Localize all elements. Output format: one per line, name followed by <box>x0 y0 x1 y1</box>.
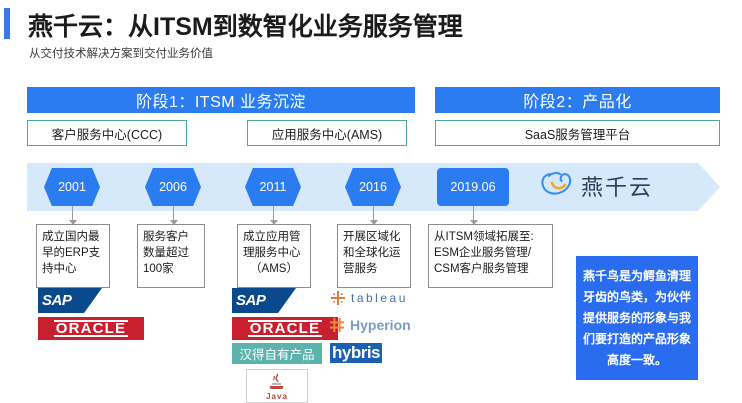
phase-2-header: 阶段2：产品化 <box>435 87 720 113</box>
brand-name: 燕千云 <box>581 170 653 202</box>
description-line: 理服务中心 <box>243 245 305 261</box>
connector-line-5 <box>473 206 474 220</box>
description-line: 营服务 <box>343 261 405 277</box>
sap-logo: SAP <box>38 288 102 313</box>
oracle-logo-text: ORACLE <box>248 320 323 337</box>
timeline-marker-2006: 2006 <box>145 168 201 206</box>
oracle-logo-text: ORACLE <box>54 320 129 337</box>
description-box-2001: 成立国内最 早的ERP支 持中心 <box>36 224 110 288</box>
title-accent-bar <box>4 8 10 39</box>
java-cup-icon <box>266 373 288 390</box>
connector-line-2 <box>173 206 174 220</box>
description-box-2006: 服务客户 数量超过 100家 <box>137 224 205 288</box>
description-box-2011: 成立应用管 理服务中心 （AMS） <box>237 224 311 288</box>
description-line: 持中心 <box>42 261 104 277</box>
swallow-bird-icon <box>540 170 574 202</box>
description-line: 服务客户 <box>143 229 199 245</box>
connector-line-3 <box>273 206 274 220</box>
sap-logo: SAP <box>232 288 296 313</box>
hand-own-product-logo: 汉得自有产品 <box>232 343 322 364</box>
description-line: 100家 <box>143 261 199 277</box>
tableau-logo-text: tableau <box>351 291 408 305</box>
page-subtitle: 从交付技术解决方案到交付业务价值 <box>29 45 213 61</box>
timeline-marker-2019-06: 2019.06 <box>437 168 509 206</box>
description-line: CSM客户服务管理 <box>434 261 547 277</box>
connector-line-1 <box>72 206 73 220</box>
service-box-ccc: 客户服务中心(CCC) <box>27 120 187 146</box>
description-line: （AMS） <box>243 261 305 277</box>
logo-group-phase1-right: tableau Hyperion hybris <box>330 288 411 363</box>
description-line: 开展区域化 <box>343 229 405 245</box>
connector-line-4 <box>373 206 374 220</box>
timeline-marker-2001: 2001 <box>44 168 100 206</box>
hyperion-hash-icon <box>330 318 344 332</box>
oracle-logo: ORACLE <box>232 317 338 340</box>
description-box-2016: 开展区域化 和全球化运 营服务 <box>337 224 411 288</box>
brand-story-note: 燕千鸟是为鳄鱼清理牙齿的鸟类，为伙伴提供服务的形象与我们要打造的产品形象高度一致… <box>576 256 698 380</box>
tableau-logo: tableau <box>330 288 411 308</box>
hyperion-logo: Hyperion <box>330 314 411 336</box>
oracle-logo: ORACLE <box>38 317 144 340</box>
phase-1-header: 阶段1：ITSM 业务沉淀 <box>27 87 415 113</box>
java-logo-text: Java <box>247 392 307 401</box>
brand-logo: 燕千云 <box>540 170 653 202</box>
description-line: 从ITSM领域拓展至: <box>434 229 547 245</box>
timeline-marker-2016: 2016 <box>345 168 401 206</box>
description-line: 和全球化运 <box>343 245 405 261</box>
logo-group-phase1-middle: SAP ORACLE 汉得自有产品 Java <box>232 288 338 403</box>
page-title: 燕千云：从ITSM到数智化业务服务管理 <box>28 7 463 43</box>
slide-canvas: 燕千云：从ITSM到数智化业务服务管理 从交付技术解决方案到交付业务价值 阶段1… <box>0 0 742 402</box>
description-line: 数量超过 <box>143 245 199 261</box>
description-line: 成立应用管 <box>243 229 305 245</box>
timeline-marker-2011: 2011 <box>245 168 301 206</box>
hyperion-logo-text: Hyperion <box>350 317 411 333</box>
description-line: ESM企业服务管理/ <box>434 245 547 261</box>
service-box-saas: SaaS服务管理平台 <box>435 120 720 146</box>
description-line: 早的ERP支 <box>42 245 104 261</box>
java-logo: Java <box>246 369 308 403</box>
hybris-logo: hybris <box>330 343 382 363</box>
logo-group-phase1-left: SAP ORACLE <box>38 288 144 340</box>
description-line: 成立国内最 <box>42 229 104 245</box>
description-box-2019: 从ITSM领域拓展至: ESM企业服务管理/ CSM客户服务管理 <box>428 224 553 288</box>
service-box-ams: 应用服务中心(AMS) <box>247 120 407 146</box>
tableau-mark-icon <box>330 290 346 306</box>
